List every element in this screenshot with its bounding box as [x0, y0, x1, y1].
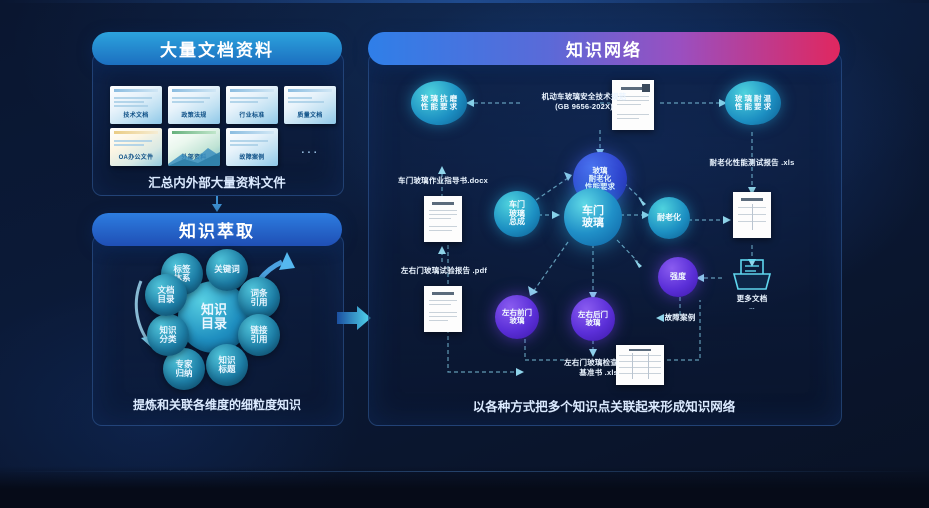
node-strength[interactable]: 强度	[658, 257, 698, 297]
page-line	[429, 210, 458, 211]
more-documents-ellipsis: ...	[712, 304, 792, 312]
node-aging-resistance[interactable]: 耐老化	[648, 197, 690, 239]
page-line	[429, 304, 451, 305]
file-page-inspection-standard[interactable]	[616, 345, 664, 385]
standard-spec-line2: (GB 9656-202X)	[504, 102, 664, 112]
page-line	[619, 361, 661, 362]
node-door-glass[interactable]: 车门 玻璃	[564, 188, 622, 246]
node-label-line3: 总成	[509, 218, 525, 227]
node-front-door-glass[interactable]: 左右前门 玻璃	[495, 295, 539, 339]
network-edges	[0, 0, 929, 508]
file-page-work-guide[interactable]	[424, 196, 462, 242]
node-label-line1: 车门	[582, 205, 604, 217]
page-line	[429, 320, 448, 321]
page-grid-line	[632, 353, 633, 379]
node-label-line1: 强度	[670, 273, 686, 282]
page-title-bar	[629, 349, 650, 351]
page-line	[429, 316, 458, 317]
page-line	[619, 373, 661, 374]
page-line	[429, 230, 453, 231]
bottom-bar	[0, 466, 929, 508]
more-documents-label: 更多文档	[712, 294, 792, 304]
documents-icon[interactable]	[732, 258, 772, 292]
file-label-aging-report: 耐老化性能测试报告 .xls	[688, 158, 816, 168]
file-label-work-guide: 车门玻璃作业指导书.docx	[378, 176, 508, 186]
page-title-bar	[741, 198, 762, 201]
network-panel-caption: 以各种方式把多个知识点关联起来形成知识网络	[368, 396, 840, 415]
node-label-line2: 玻璃	[582, 217, 604, 229]
page-line	[429, 312, 458, 313]
page-title-bar	[432, 202, 453, 205]
page-line	[617, 114, 649, 115]
page-line	[429, 300, 458, 301]
node-label-line2: 性 能 要 求	[735, 103, 771, 111]
page-grid-line	[752, 204, 753, 230]
standard-spec-label: 机动车玻璃安全技术规范 (GB 9656-202X)	[504, 92, 664, 112]
page-line	[429, 226, 458, 227]
file-label-test-report: 左右门玻璃试验报告 .pdf	[378, 266, 510, 276]
node-label-line2: 性 能 要 求	[421, 103, 457, 111]
node-rear-door-glass[interactable]: 左右后门 玻璃	[571, 297, 615, 341]
fault-case-label: 故障案例	[648, 313, 712, 323]
file-label-inspection-standard: 左右门玻璃检查 基准书 .xls	[534, 358, 618, 378]
file-label-line2: 基准书 .xls	[534, 368, 618, 378]
node-label-line1: 耐老化	[657, 214, 681, 223]
node-glass-abrasion-requirement[interactable]: 玻 璃 抗 磨 性 能 要 求	[411, 81, 467, 125]
file-page-aging-report[interactable]	[733, 192, 771, 238]
page-grid-line	[648, 353, 649, 379]
node-door-glass-assembly[interactable]: 车门 玻璃 总成	[494, 191, 540, 237]
qr-code-icon	[642, 84, 650, 92]
page-line	[429, 214, 458, 215]
page-line	[617, 118, 639, 119]
standard-spec-line1: 机动车玻璃安全技术规范	[504, 92, 664, 102]
node-glass-heat-requirement[interactable]: 玻 璃 耐 温 性 能 要 求	[725, 81, 781, 125]
page-line	[429, 218, 451, 219]
page-line	[619, 355, 661, 356]
slide-canvas: 大量文档资料 技术文档 政策法规 行业标准 质量文档 OA办公文件 外部资料	[0, 0, 929, 508]
page-line	[619, 367, 661, 368]
file-label-line1: 左右门玻璃检查	[534, 358, 618, 368]
page-title-bar	[432, 292, 453, 295]
node-label-line2: 玻璃	[586, 319, 601, 327]
file-page-test-report[interactable]	[424, 286, 462, 332]
node-label-line2: 玻璃	[510, 317, 525, 325]
